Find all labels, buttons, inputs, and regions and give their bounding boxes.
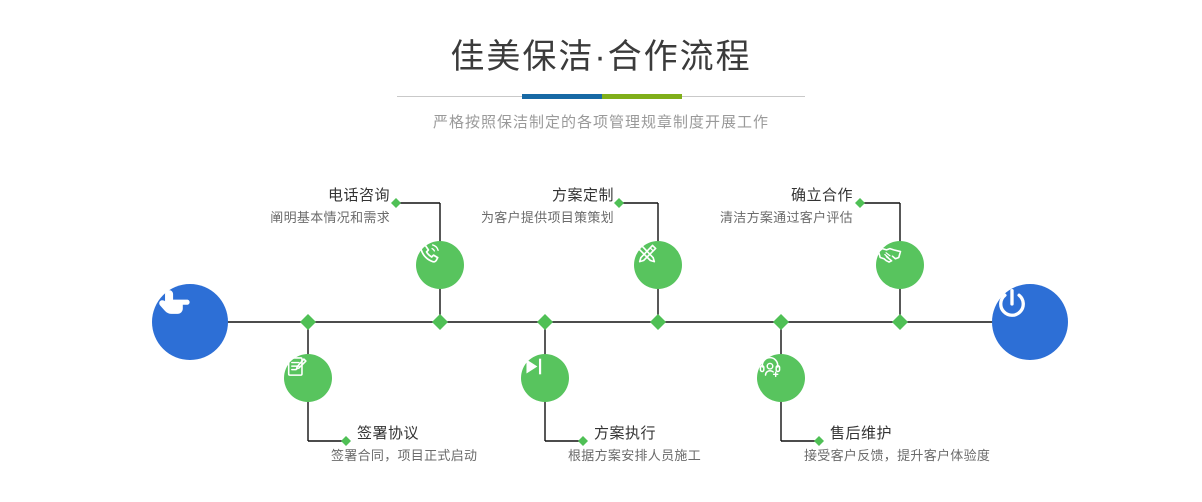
top-label-diamond-3 xyxy=(855,198,865,208)
play-execute-icon xyxy=(521,354,546,379)
bottom-label-diamond-1 xyxy=(341,436,351,446)
step-label-bottom-2: 方案执行 根据方案安排人员施工 xyxy=(594,424,701,466)
pencil-edit-icon xyxy=(634,241,660,267)
document-sign-icon xyxy=(284,354,309,379)
bottom-label-diamond-3 xyxy=(814,436,824,446)
power-icon xyxy=(992,284,1032,324)
step-label-bottom-1: 签署协议 签署合同，项目正式启动 xyxy=(357,424,477,466)
step-icon-top-1[interactable] xyxy=(416,241,464,289)
step-desc-top-3: 清洁方案通过客户评估 xyxy=(470,208,853,228)
flow-start-node[interactable] xyxy=(152,284,228,360)
step-icon-bottom-3[interactable] xyxy=(757,354,805,402)
flow-end-node[interactable] xyxy=(992,284,1068,360)
step-title-top-3: 确立合作 xyxy=(470,186,853,206)
step-icon-top-2[interactable] xyxy=(634,241,682,289)
step-icon-top-3[interactable] xyxy=(876,241,924,289)
step-label-top-3: 确立合作 清洁方案通过客户评估 xyxy=(470,186,853,228)
pointing-hand-icon xyxy=(152,284,194,326)
timeline-diamond-4 xyxy=(650,314,666,330)
timeline-diamond-1 xyxy=(300,314,316,330)
step-label-bottom-3: 售后维护 接受客户反馈，提升客户体验度 xyxy=(830,424,990,466)
step-title-bottom-3: 售后维护 xyxy=(830,424,990,444)
timeline-diamond-5 xyxy=(773,314,789,330)
customer-support-icon xyxy=(757,354,783,380)
step-title-bottom-2: 方案执行 xyxy=(594,424,701,444)
step-icon-bottom-1[interactable] xyxy=(284,354,332,402)
step-title-bottom-1: 签署协议 xyxy=(357,424,477,444)
step-desc-bottom-2: 根据方案安排人员施工 xyxy=(568,446,701,466)
timeline-diamond-3 xyxy=(537,314,553,330)
step-desc-bottom-3: 接受客户反馈，提升客户体验度 xyxy=(804,446,990,466)
step-desc-bottom-1: 签署合同，项目正式启动 xyxy=(331,446,477,466)
flow-diagram: 电话咨询 阐明基本情况和需求 方案定制 为客户提供项目策策划 确立合作 清洁方案… xyxy=(0,0,1202,502)
handshake-icon xyxy=(876,241,903,268)
process-flow-page: 佳美保洁·合作流程 严格按照保洁制定的各项管理规章制度开展工作 xyxy=(0,0,1202,502)
bottom-label-diamond-2 xyxy=(578,436,588,446)
timeline-diamond-6 xyxy=(892,314,908,330)
step-icon-bottom-2[interactable] xyxy=(521,354,569,402)
timeline-diamond-2 xyxy=(432,314,448,330)
phone-call-icon xyxy=(416,241,442,267)
